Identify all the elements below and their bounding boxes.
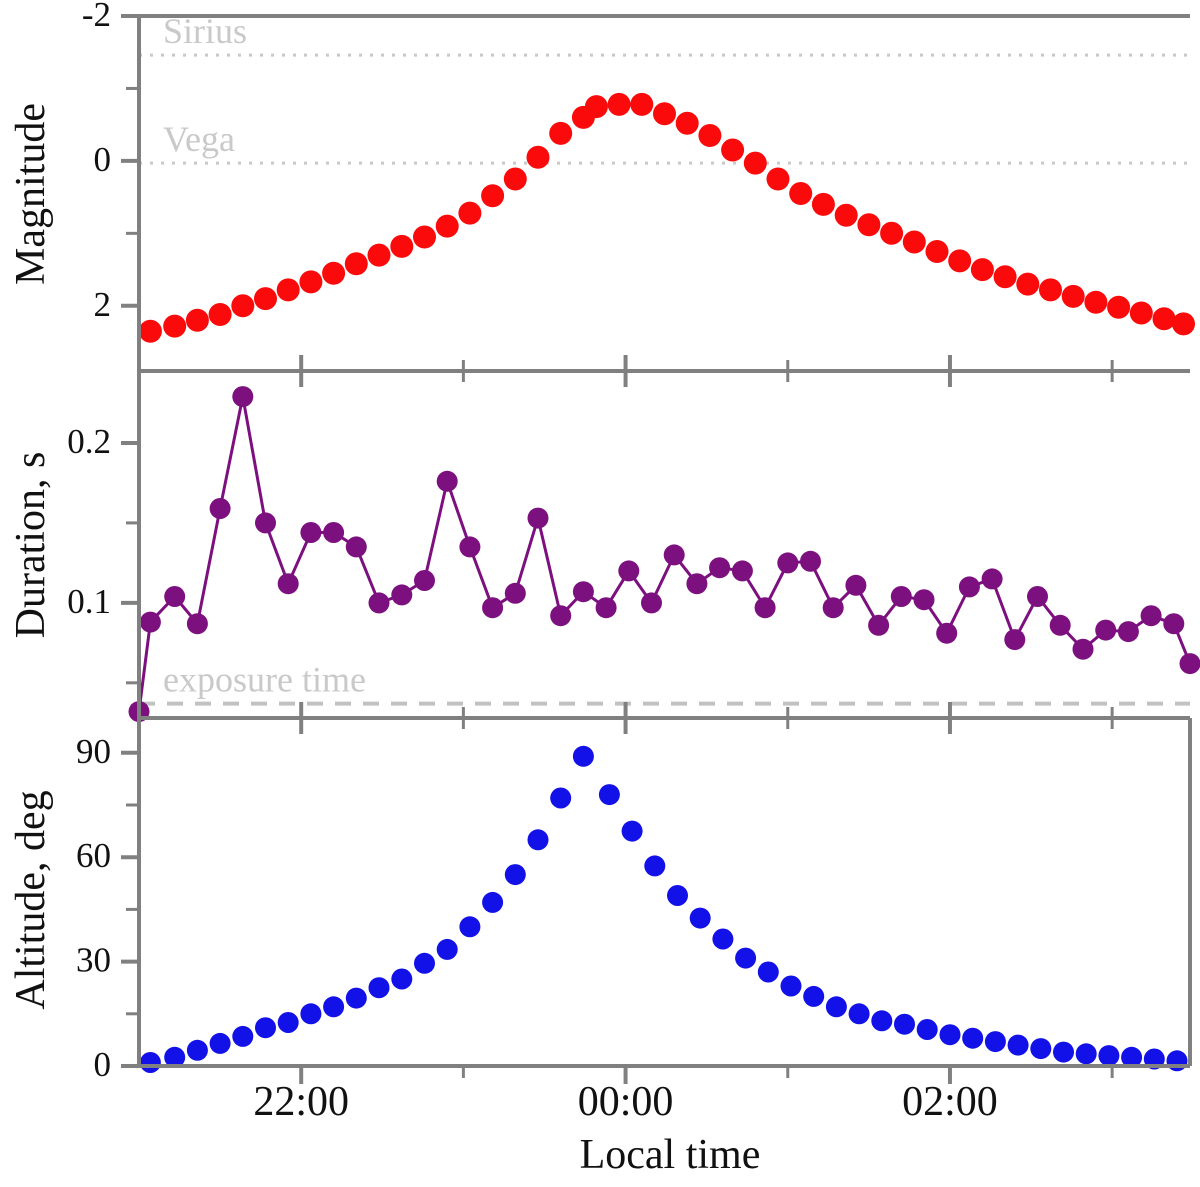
data-point — [414, 953, 435, 974]
data-point — [278, 573, 299, 594]
data-point — [346, 988, 367, 1009]
data-point — [459, 916, 480, 937]
data-point — [1153, 307, 1176, 330]
data-point — [618, 560, 639, 581]
y-tick-label: 0.1 — [67, 582, 111, 621]
data-point — [210, 1033, 231, 1054]
data-point — [436, 215, 459, 238]
magnitude-axis-title: Magnitude — [8, 103, 54, 285]
data-point — [163, 315, 186, 338]
data-point — [894, 1014, 915, 1035]
duration-axis-title: Duration, s — [8, 452, 54, 639]
y-tick-label: 0 — [94, 1045, 112, 1084]
altitude-axis — [139, 718, 1190, 1066]
data-point — [437, 471, 458, 492]
figure-root: -202 SiriusVega Magnitude 0.10.2 exposur… — [0, 0, 1200, 1187]
data-point — [758, 962, 779, 983]
data-point — [767, 168, 790, 191]
magnitude-data-points — [139, 93, 1195, 343]
data-point — [1167, 1050, 1188, 1071]
data-point — [482, 597, 503, 618]
data-point — [390, 235, 413, 258]
data-point — [323, 996, 344, 1017]
data-point — [789, 182, 812, 205]
data-point — [1039, 278, 1062, 301]
data-point — [1073, 639, 1094, 660]
data-point — [777, 552, 798, 573]
data-point — [622, 821, 643, 842]
data-point — [505, 583, 526, 604]
y-tick-label: 2 — [94, 285, 112, 324]
data-point — [254, 287, 277, 310]
data-point — [849, 1003, 870, 1024]
duration-y-ticks — [121, 443, 139, 683]
data-point — [1027, 586, 1048, 607]
x-tick-labels: 22:0000:0002:00 — [253, 1079, 997, 1125]
data-point — [826, 996, 847, 1017]
astronomy-multipanel-figure: -202 SiriusVega Magnitude 0.10.2 exposur… — [0, 0, 1200, 1187]
data-point — [835, 204, 858, 227]
data-point — [481, 184, 504, 207]
data-point — [300, 1003, 321, 1024]
data-point — [914, 589, 935, 610]
data-point — [299, 270, 322, 293]
data-point — [630, 93, 653, 116]
data-point — [803, 986, 824, 1007]
data-point — [504, 168, 527, 191]
data-point — [550, 605, 571, 626]
data-point — [322, 262, 345, 285]
data-point — [187, 1040, 208, 1061]
data-point — [971, 258, 994, 281]
data-point — [985, 1031, 1006, 1052]
y-tick-label: 0 — [94, 140, 112, 179]
annotation-label-vega: Vega — [163, 119, 235, 159]
data-point — [414, 570, 435, 591]
data-point — [1098, 1045, 1119, 1066]
data-point — [744, 152, 767, 175]
data-point — [413, 226, 436, 249]
data-point — [959, 576, 980, 597]
data-point — [278, 1012, 299, 1033]
data-point — [459, 536, 480, 557]
data-point — [823, 597, 844, 618]
data-point — [391, 584, 412, 605]
annotation-label-sirius: Sirius — [163, 11, 247, 51]
data-point — [690, 908, 711, 929]
magnitude-axis — [139, 16, 1190, 371]
data-point — [277, 278, 300, 301]
duration-annotation-labels: exposure time — [163, 660, 366, 700]
data-point — [641, 592, 662, 613]
data-point — [1004, 629, 1025, 650]
annotation-label-exposure-time: exposure time — [163, 660, 366, 700]
data-point — [140, 1052, 161, 1073]
data-point — [323, 522, 344, 543]
data-point — [676, 112, 699, 135]
data-point — [936, 623, 957, 644]
data-point — [940, 1024, 961, 1045]
data-point — [187, 613, 208, 634]
data-point — [231, 294, 254, 317]
data-point — [1130, 302, 1153, 325]
data-point — [644, 855, 665, 876]
y-tick-label: -2 — [82, 0, 111, 34]
data-point — [1008, 1035, 1029, 1056]
data-point — [139, 320, 162, 343]
data-point — [599, 784, 620, 805]
data-point — [391, 969, 412, 990]
panel-duration: 0.10.2 exposure time Duration, s — [8, 371, 1200, 734]
data-point — [368, 244, 391, 267]
data-point — [209, 303, 232, 326]
data-point — [903, 231, 926, 254]
data-point — [482, 892, 503, 913]
data-point — [781, 976, 802, 997]
data-point — [232, 386, 253, 407]
altitude-data-points — [140, 746, 1188, 1073]
data-point — [880, 222, 903, 245]
data-point — [585, 95, 608, 118]
data-point — [458, 202, 481, 225]
data-point — [1062, 285, 1085, 308]
data-point — [857, 213, 880, 236]
altitude-y-ticks — [121, 753, 139, 1066]
data-point — [164, 586, 185, 607]
data-point — [712, 929, 733, 950]
data-point — [255, 1017, 276, 1038]
data-point — [528, 829, 549, 850]
data-point — [346, 536, 367, 557]
data-point — [1163, 613, 1184, 634]
data-point — [1095, 620, 1116, 641]
data-point — [549, 122, 572, 145]
altitude-axis-title: Altitude, deg — [8, 790, 54, 1009]
data-point — [1076, 1043, 1097, 1064]
data-point — [1107, 296, 1130, 319]
data-point — [528, 508, 549, 529]
data-point — [210, 498, 231, 519]
data-point — [994, 265, 1017, 288]
data-point — [800, 551, 821, 572]
data-point — [735, 948, 756, 969]
data-point — [653, 102, 676, 125]
data-point — [709, 557, 730, 578]
data-point — [812, 193, 835, 216]
data-point — [667, 885, 688, 906]
y-tick-label: 90 — [76, 732, 111, 771]
duration-y-tick-labels: 0.10.2 — [67, 422, 111, 621]
data-point — [845, 575, 866, 596]
data-point — [1016, 273, 1039, 296]
data-point — [1118, 621, 1139, 642]
x-tick-label: 22:00 — [253, 1079, 349, 1125]
data-point — [868, 615, 889, 636]
data-point — [300, 522, 321, 543]
data-point — [1050, 615, 1071, 636]
data-point — [1030, 1038, 1051, 1059]
data-point — [596, 597, 617, 618]
x-axis-title: Local time — [580, 1132, 761, 1178]
data-point — [140, 612, 161, 633]
x-tick-label: 00:00 — [578, 1079, 674, 1125]
data-point — [527, 146, 550, 169]
data-point — [1084, 291, 1107, 314]
magnitude-y-tick-labels: -202 — [82, 0, 111, 324]
data-point — [1180, 653, 1200, 674]
data-point — [721, 139, 744, 162]
data-point — [1172, 312, 1195, 335]
altitude-y-tick-labels: 0306090 — [76, 732, 111, 1084]
data-point — [962, 1028, 983, 1049]
data-point — [505, 864, 526, 885]
data-point — [917, 1019, 938, 1040]
y-tick-label: 30 — [76, 941, 111, 980]
data-point — [186, 309, 209, 332]
y-tick-label: 0.2 — [67, 422, 111, 461]
panel-magnitude: -202 SiriusVega Magnitude — [8, 0, 1195, 387]
data-point — [926, 240, 949, 263]
panel-altitude: 0306090 Altitude, deg — [8, 718, 1190, 1084]
data-point — [255, 512, 276, 533]
data-point — [871, 1010, 892, 1031]
data-point — [550, 788, 571, 809]
data-point — [755, 597, 776, 618]
magnitude-y-ticks — [121, 16, 139, 306]
data-point — [345, 252, 368, 275]
data-point — [686, 573, 707, 594]
data-point — [732, 560, 753, 581]
data-point — [982, 568, 1003, 589]
data-point — [437, 939, 458, 960]
data-point — [1053, 1042, 1074, 1063]
magnitude-annotation-labels: SiriusVega — [163, 11, 247, 159]
data-point — [698, 124, 721, 147]
x-tick-label: 02:00 — [902, 1079, 998, 1125]
data-point — [369, 592, 390, 613]
data-point — [232, 1026, 253, 1047]
data-point — [573, 581, 594, 602]
data-point — [948, 249, 971, 272]
data-point — [369, 977, 390, 998]
data-point — [664, 544, 685, 565]
data-point — [891, 586, 912, 607]
data-point — [608, 93, 631, 116]
data-point — [573, 746, 594, 767]
y-tick-label: 60 — [76, 836, 111, 875]
data-point — [1141, 605, 1162, 626]
